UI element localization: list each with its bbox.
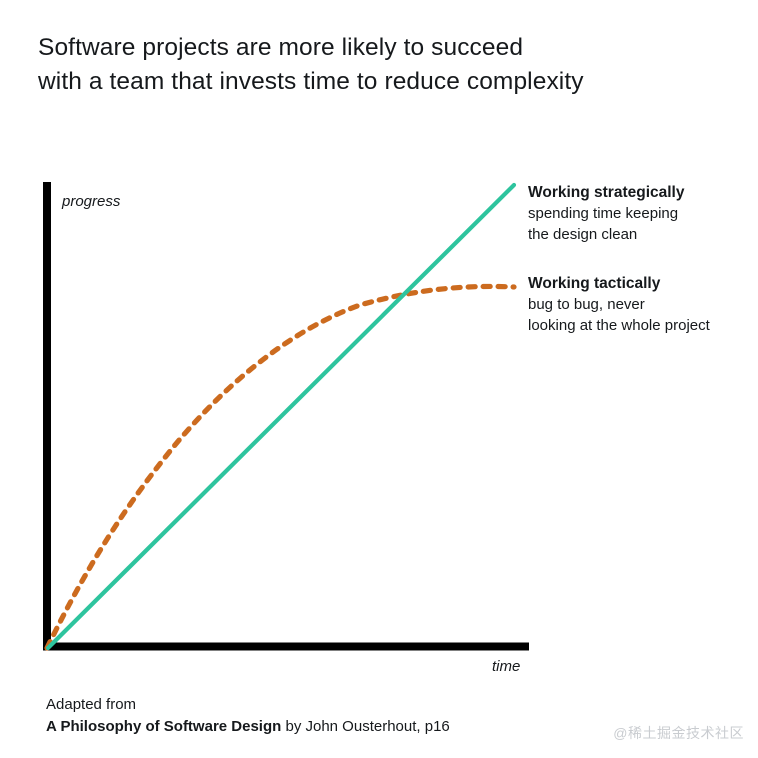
series-line-working-strategically bbox=[48, 185, 514, 648]
chart-figure: Software projects are more likely to suc… bbox=[0, 0, 758, 758]
y-axis-label: progress bbox=[62, 193, 120, 210]
source-line-1: Adapted from bbox=[46, 694, 646, 716]
legend-entry-working-tactically: Working tactically bug to bug, never loo… bbox=[528, 273, 754, 336]
legend-title-working-tactically: Working tactically bbox=[528, 273, 754, 294]
source-book-credit: by John Ousterhout, p16 bbox=[281, 718, 449, 735]
legend-desc-working-strategically-line-2: the design clean bbox=[528, 224, 754, 245]
legend-desc-working-tactically-line-1: bug to bug, never bbox=[528, 294, 754, 315]
watermark: @稀土掘金技术社区 bbox=[613, 723, 744, 743]
x-axis-label: time bbox=[492, 658, 520, 675]
source-book-title: A Philosophy of Software Design bbox=[46, 718, 281, 735]
plot-canvas bbox=[0, 0, 758, 758]
legend-desc-working-strategically-line-1: spending time keeping bbox=[528, 203, 754, 224]
legend-title-working-strategically: Working strategically bbox=[528, 182, 754, 203]
legend-entry-working-strategically: Working strategically spending time keep… bbox=[528, 182, 754, 245]
series-line-working-tactically bbox=[47, 286, 514, 648]
source-attribution: Adapted from A Philosophy of Software De… bbox=[46, 694, 646, 738]
legend-desc-working-tactically-line-2: looking at the whole project bbox=[528, 315, 754, 336]
source-line-2: A Philosophy of Software Design by John … bbox=[46, 716, 646, 738]
